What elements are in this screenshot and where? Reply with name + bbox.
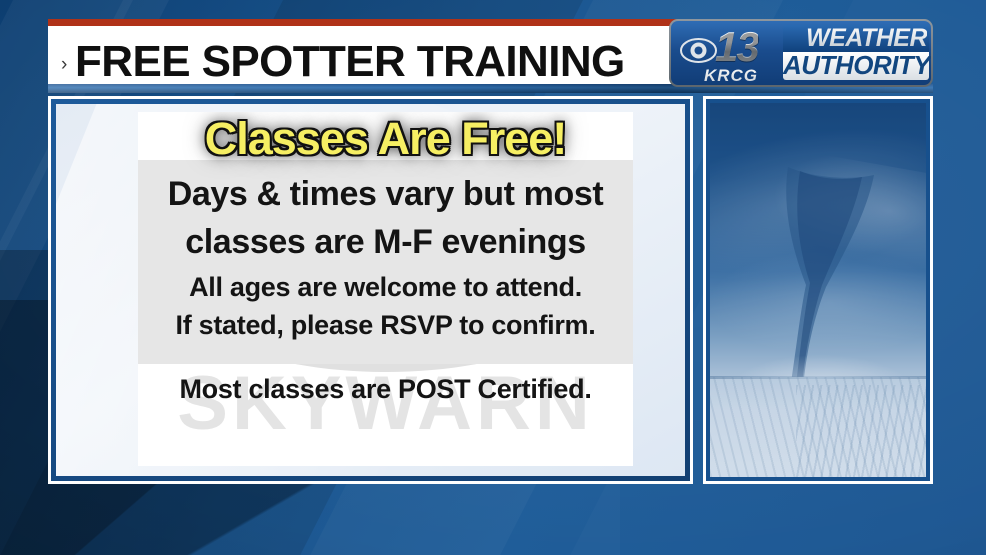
logo-inner: 13 KRCG WEATHER AUTHORITY xyxy=(671,21,931,85)
cbs-eye-icon xyxy=(680,38,717,63)
brand-weather-text: WEATHER xyxy=(783,24,927,52)
header-red-accent xyxy=(48,19,699,26)
logo-channel-block: 13 KRCG xyxy=(671,21,781,85)
info-panel: SKYWARN Classes Are Free! Days & times v… xyxy=(138,112,633,466)
body-line-3: All ages are welcome to attend. xyxy=(138,268,633,306)
header-title-plate: › FREE SPOTTER TRAINING xyxy=(48,26,699,84)
chevron-right-icon: › xyxy=(61,55,67,74)
body-line-2: classes are M-F evenings xyxy=(138,218,633,266)
body-line-1: Days & times vary but most xyxy=(138,170,633,218)
tornado-photo-frame xyxy=(703,96,933,484)
brand-authority-text: AUTHORITY xyxy=(783,50,927,80)
headline: Classes Are Free! xyxy=(138,112,633,168)
logo-brand-block: WEATHER AUTHORITY xyxy=(783,25,929,81)
brand-line-weather: WEATHER xyxy=(783,25,929,52)
body-line-5: Most classes are POST Certified. xyxy=(138,370,633,408)
info-card: SKYWARN Classes Are Free! Days & times v… xyxy=(48,96,693,484)
info-card-frame: SKYWARN Classes Are Free! Days & times v… xyxy=(51,99,690,481)
station-logo: 13 KRCG WEATHER AUTHORITY xyxy=(669,19,933,87)
channel-number: 13 xyxy=(715,23,758,71)
brand-line-authority: AUTHORITY xyxy=(783,52,929,80)
broadcast-graphic: › FREE SPOTTER TRAINING 13 KRCG WEATHER xyxy=(0,0,986,555)
tornado-photo xyxy=(706,99,930,481)
call-sign: KRCG xyxy=(683,66,779,85)
photo-blue-tint xyxy=(710,103,926,477)
page-title: FREE SPOTTER TRAINING xyxy=(75,37,625,87)
body-line-4: If stated, please RSVP to confirm. xyxy=(138,306,633,344)
